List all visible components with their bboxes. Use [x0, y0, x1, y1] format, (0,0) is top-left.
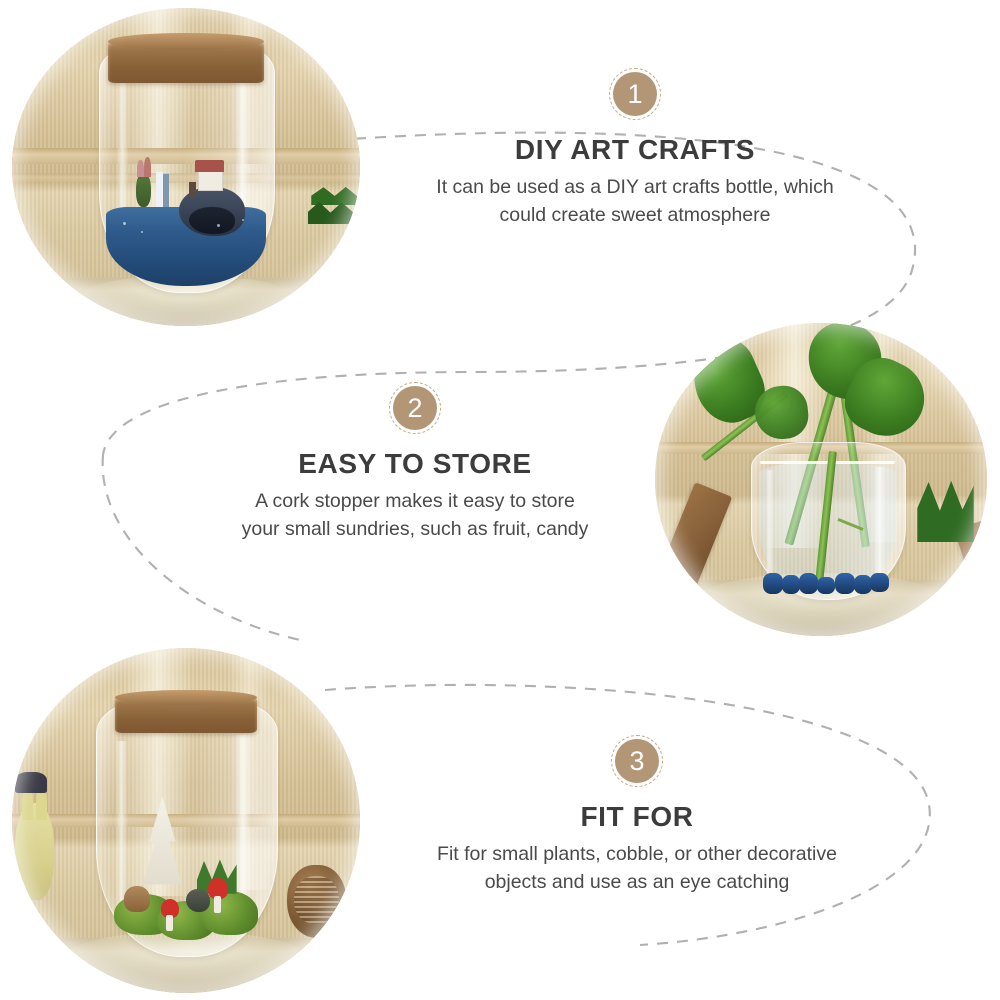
- badge-number: 1: [609, 68, 661, 120]
- section-3-desc-line-1: Fit for small plants, cobble, or other d…: [370, 841, 904, 869]
- section-1-desc-line-1: It can be used as a DIY art crafts bottl…: [368, 174, 902, 202]
- section-2-desc-line-1: A cork stopper makes it easy to store: [148, 488, 682, 516]
- badge-number: 3: [611, 735, 663, 787]
- step-badge-2: 2: [389, 382, 441, 434]
- photo-jar-blue-sand-terrarium: [12, 8, 360, 326]
- section-1-text: 1 DIY ART CRAFTS It can be used as a DIY…: [368, 68, 902, 229]
- section-3-title: FIT FOR: [370, 801, 904, 833]
- step-badge-3: 3: [611, 735, 663, 787]
- step-badge-1: 1: [609, 68, 661, 120]
- section-2-text: 2 EASY TO STORE A cork stopper makes it …: [148, 382, 682, 543]
- section-3-text: 3 FIT FOR Fit for small plants, cobble, …: [370, 735, 904, 896]
- section-3-desc-line-2: objects and use as an eye catching: [370, 869, 904, 897]
- photo-jar-moss-mushroom-terrarium: [12, 648, 360, 993]
- badge-number: 2: [389, 382, 441, 434]
- photo-glass-vase-pothos-plant: [655, 323, 987, 636]
- section-2-title: EASY TO STORE: [148, 448, 682, 480]
- section-2-desc-line-2: your small sundries, such as fruit, cand…: [148, 516, 682, 544]
- section-1-title: DIY ART CRAFTS: [368, 134, 902, 166]
- infographic-page: 1 DIY ART CRAFTS It can be used as a DIY…: [0, 0, 1000, 1000]
- section-1-desc-line-2: could create sweet atmosphere: [368, 202, 902, 230]
